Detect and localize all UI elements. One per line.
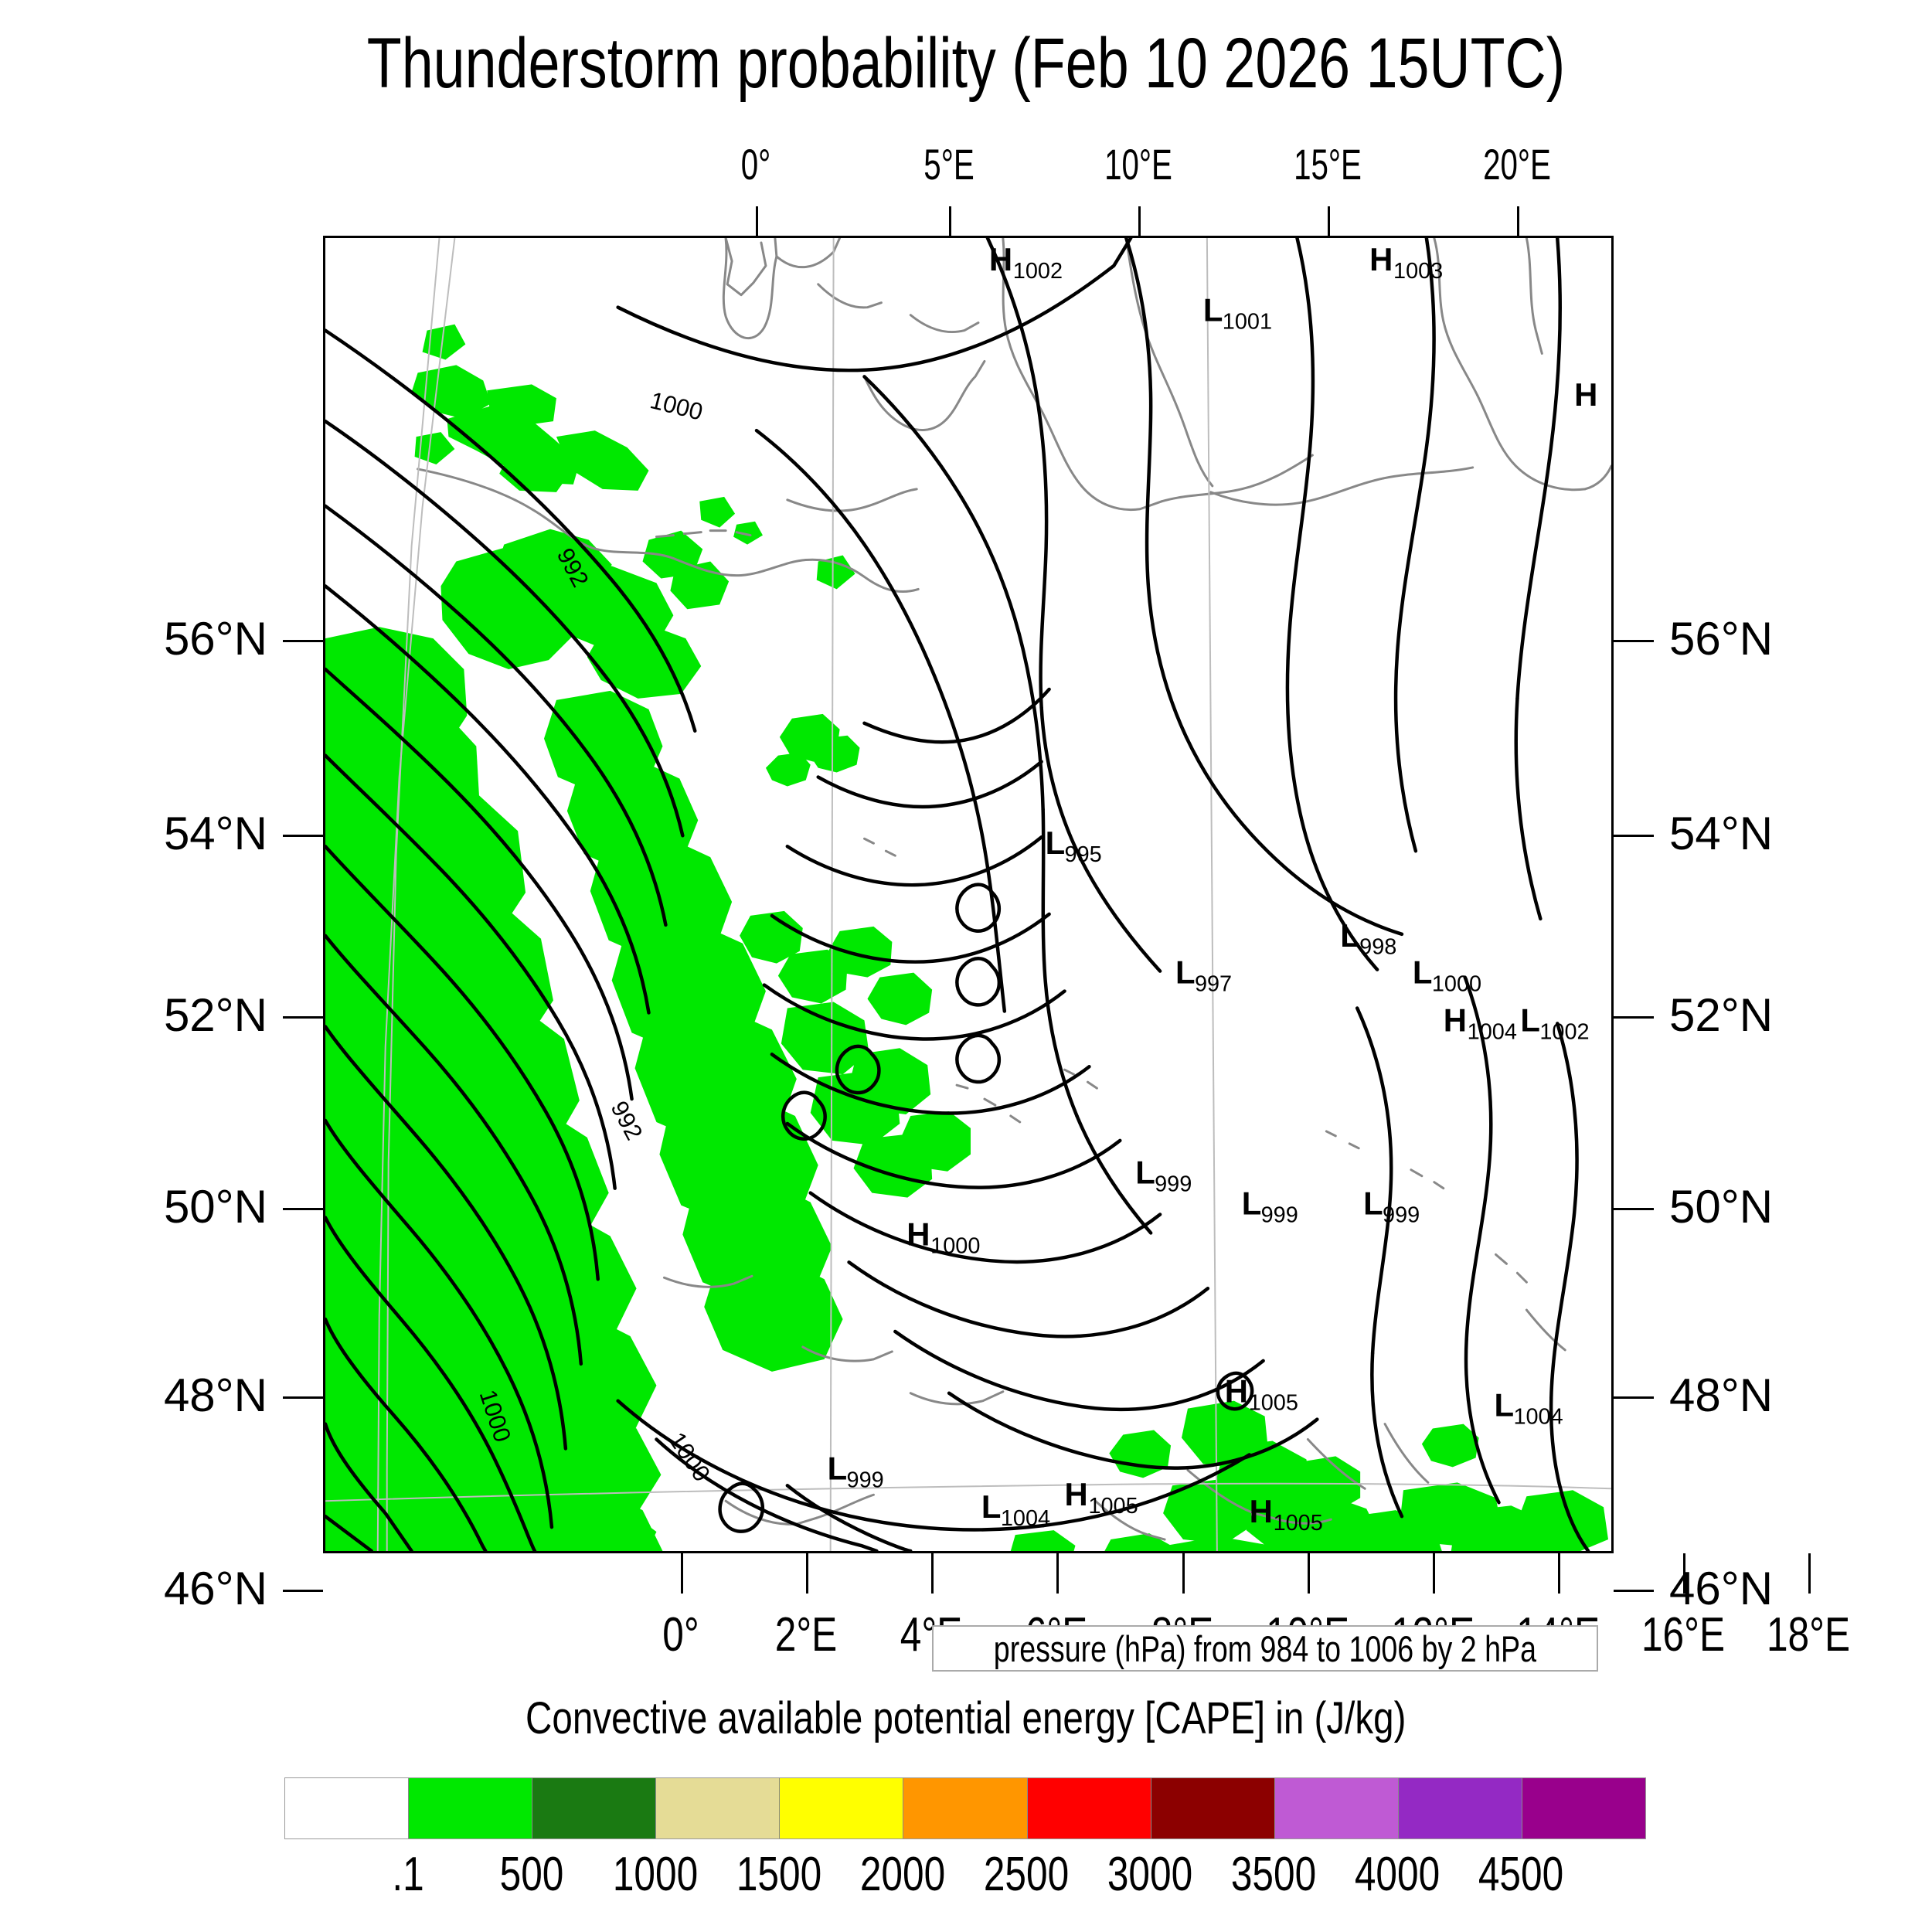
pressure-center: H1004 <box>1444 1002 1517 1044</box>
pressure-center: H1000 <box>906 1216 980 1258</box>
svg-text:1005: 1005 <box>1088 1494 1138 1519</box>
lat-label-right: 52°N <box>1669 988 1773 1042</box>
svg-text:999: 999 <box>1261 1203 1298 1228</box>
lat-tick-left <box>283 1016 323 1019</box>
colorbar-swatch <box>409 1778 532 1838</box>
map-canvas: 1000 992 992 1000 1000 1005 H1002 L1001 … <box>325 238 1611 1551</box>
cape-colorbar <box>284 1777 1646 1839</box>
lon-tick-bottom <box>1558 1553 1560 1594</box>
svg-text:H: H <box>1369 241 1393 277</box>
colorbar-swatch <box>1028 1778 1151 1838</box>
svg-text:1004: 1004 <box>1468 1019 1517 1044</box>
svg-text:H: H <box>989 241 1012 277</box>
pressure-center: L999 <box>828 1450 884 1492</box>
colorbar-swatch <box>780 1778 903 1838</box>
svg-text:1002: 1002 <box>1539 1019 1589 1044</box>
colorbar-swatch <box>1399 1778 1522 1838</box>
svg-text:L: L <box>1242 1185 1262 1222</box>
svg-text:1003: 1003 <box>1393 259 1443 284</box>
map-plot-area: 1000 992 992 1000 1000 1005 H1002 L1001 … <box>323 236 1614 1553</box>
svg-text:1005: 1005 <box>1249 1391 1298 1416</box>
colorbar-swatch <box>1151 1778 1275 1838</box>
svg-text:L: L <box>1203 292 1223 328</box>
colorbar-tick-label: .1 <box>392 1847 423 1902</box>
svg-text:1005: 1005 <box>1274 1511 1323 1536</box>
svg-text:992: 992 <box>605 1097 648 1145</box>
svg-text:L: L <box>1135 1155 1155 1191</box>
svg-text:999: 999 <box>847 1468 884 1492</box>
svg-text:1004: 1004 <box>1513 1405 1563 1430</box>
lon-label-bottom: 2°E <box>775 1607 838 1662</box>
pressure-center: H1002 <box>989 241 1063 284</box>
lat-label-left: 52°N <box>164 988 267 1042</box>
lat-label-right: 46°N <box>1669 1562 1773 1615</box>
svg-text:1000: 1000 <box>1432 972 1481 997</box>
lat-label-right: 54°N <box>1669 807 1773 860</box>
svg-text:H: H <box>1574 376 1597 413</box>
svg-text:998: 998 <box>1359 935 1396 960</box>
lon-tick-bottom <box>681 1553 683 1594</box>
lat-label-left: 54°N <box>164 807 267 860</box>
lon-tick-top <box>1138 206 1141 236</box>
svg-text:999: 999 <box>1383 1203 1420 1228</box>
svg-text:L: L <box>1046 825 1066 861</box>
lat-tick-right <box>1614 835 1654 837</box>
colorbar-tick-label: 1000 <box>613 1847 698 1902</box>
svg-text:H: H <box>1444 1002 1467 1038</box>
svg-text:995: 995 <box>1065 842 1102 867</box>
pressure-center: H1005 <box>1065 1476 1138 1519</box>
colorbar-caption-text: Convective available potential energy [C… <box>526 1692 1406 1744</box>
svg-text:L: L <box>1495 1387 1515 1423</box>
svg-text:L: L <box>1413 954 1433 991</box>
lon-tick-top <box>1517 206 1519 236</box>
colorbar-swatch <box>903 1778 1027 1838</box>
lon-label-bottom: 16°E <box>1641 1607 1725 1662</box>
svg-text:H: H <box>1065 1476 1088 1512</box>
colorbar-swatch <box>532 1778 656 1838</box>
lat-label-right: 48°N <box>1669 1369 1773 1422</box>
lat-label-left: 50°N <box>164 1180 267 1233</box>
colorbar-tick-label: 4500 <box>1478 1847 1563 1902</box>
lon-label-bottom: 0° <box>662 1607 699 1662</box>
lat-tick-left <box>283 835 323 837</box>
lon-tick-bottom <box>1808 1553 1811 1594</box>
svg-text:997: 997 <box>1195 972 1232 997</box>
svg-text:H: H <box>906 1216 930 1252</box>
lon-label-bottom: 18°E <box>1767 1607 1850 1662</box>
svg-text:L: L <box>1363 1185 1383 1222</box>
svg-text:L: L <box>1340 917 1360 954</box>
pressure-center: L1000 <box>1413 954 1481 997</box>
cape-colorbar-labels: .150010001500200025003000350040004500 <box>284 1847 1645 1909</box>
pressure-center: L1001 <box>1203 292 1272 335</box>
pressure-legend-box: pressure (hPa) from 984 to 1006 by 2 hPa <box>932 1625 1598 1672</box>
lat-tick-right <box>1614 1208 1654 1210</box>
lat-label-right: 56°N <box>1669 612 1773 665</box>
svg-text:1004: 1004 <box>1001 1506 1050 1531</box>
lat-tick-right <box>1614 1590 1654 1592</box>
svg-text:1001: 1001 <box>1223 310 1272 335</box>
lat-tick-left <box>283 640 323 642</box>
svg-text:1000: 1000 <box>648 386 706 426</box>
pressure-center: L997 <box>1175 954 1232 997</box>
lat-tick-left <box>283 1396 323 1399</box>
lon-tick-bottom <box>1182 1553 1185 1594</box>
lon-tick-top <box>756 206 758 236</box>
lon-label-top: 20°E <box>1483 139 1551 189</box>
colorbar-tick-label: 4000 <box>1355 1847 1440 1902</box>
svg-text:1002: 1002 <box>1013 259 1063 284</box>
lat-tick-right <box>1614 1016 1654 1019</box>
lon-label-top: 15°E <box>1294 139 1362 189</box>
colorbar-tick-label: 1500 <box>736 1847 821 1902</box>
colorbar-tick-label: 3000 <box>1107 1847 1192 1902</box>
weather-map-page: Thunderstorm probability (Feb 10 2026 15… <box>0 0 1932 1932</box>
colorbar-tick-label: 2500 <box>984 1847 1069 1902</box>
lon-tick-bottom <box>1056 1553 1059 1594</box>
lat-label-left: 48°N <box>164 1369 267 1422</box>
colorbar-tick-label: 500 <box>500 1847 564 1902</box>
svg-text:L: L <box>828 1450 848 1486</box>
lon-tick-bottom <box>931 1553 934 1594</box>
colorbar-swatch <box>1275 1778 1399 1838</box>
svg-text:H: H <box>1225 1373 1248 1410</box>
pressure-center: L1002 <box>1520 1002 1589 1044</box>
lat-tick-left <box>283 1590 323 1592</box>
pressure-center: L999 <box>1135 1155 1192 1197</box>
colorbar-swatch <box>656 1778 780 1838</box>
svg-text:L: L <box>1175 954 1196 991</box>
pressure-center: L1004 <box>981 1488 1050 1531</box>
lon-tick-bottom <box>1308 1553 1310 1594</box>
lat-label-left: 56°N <box>164 612 267 665</box>
lon-tick-top <box>949 206 951 236</box>
svg-text:L: L <box>981 1488 1002 1525</box>
lat-label-right: 50°N <box>1669 1180 1773 1233</box>
lon-label-top: 10°E <box>1104 139 1172 189</box>
pressure-center: L995 <box>1046 825 1102 867</box>
pressure-center: H1003 <box>1369 241 1443 284</box>
lat-tick-right <box>1614 1396 1654 1399</box>
lon-tick-top <box>1328 206 1330 236</box>
pressure-center: L999 <box>1242 1185 1298 1228</box>
lat-label-left: 46°N <box>164 1562 267 1615</box>
lon-tick-bottom <box>1433 1553 1435 1594</box>
pressure-center: H1005 <box>1225 1373 1298 1416</box>
colorbar-tick-label: 3500 <box>1231 1847 1316 1902</box>
pressure-center: H <box>1574 376 1597 413</box>
lat-tick-left <box>283 1208 323 1210</box>
colorbar-tick-label: 2000 <box>860 1847 945 1902</box>
lat-tick-right <box>1614 640 1654 642</box>
colorbar-swatch <box>285 1778 409 1838</box>
svg-text:L: L <box>1520 1002 1540 1038</box>
svg-text:H: H <box>1250 1493 1273 1529</box>
lon-tick-bottom <box>806 1553 808 1594</box>
lon-label-top: 0° <box>741 139 771 189</box>
svg-text:1000: 1000 <box>930 1233 980 1258</box>
pressure-legend-text: pressure (hPa) from 984 to 1006 by 2 hPa <box>994 1628 1536 1670</box>
page-title: Thunderstorm probability (Feb 10 2026 15… <box>193 23 1739 104</box>
colorbar-swatch <box>1522 1778 1645 1838</box>
lon-label-top: 5°E <box>923 139 974 189</box>
colorbar-caption: Convective available potential energy [C… <box>0 1692 1932 1744</box>
svg-text:999: 999 <box>1155 1172 1192 1197</box>
